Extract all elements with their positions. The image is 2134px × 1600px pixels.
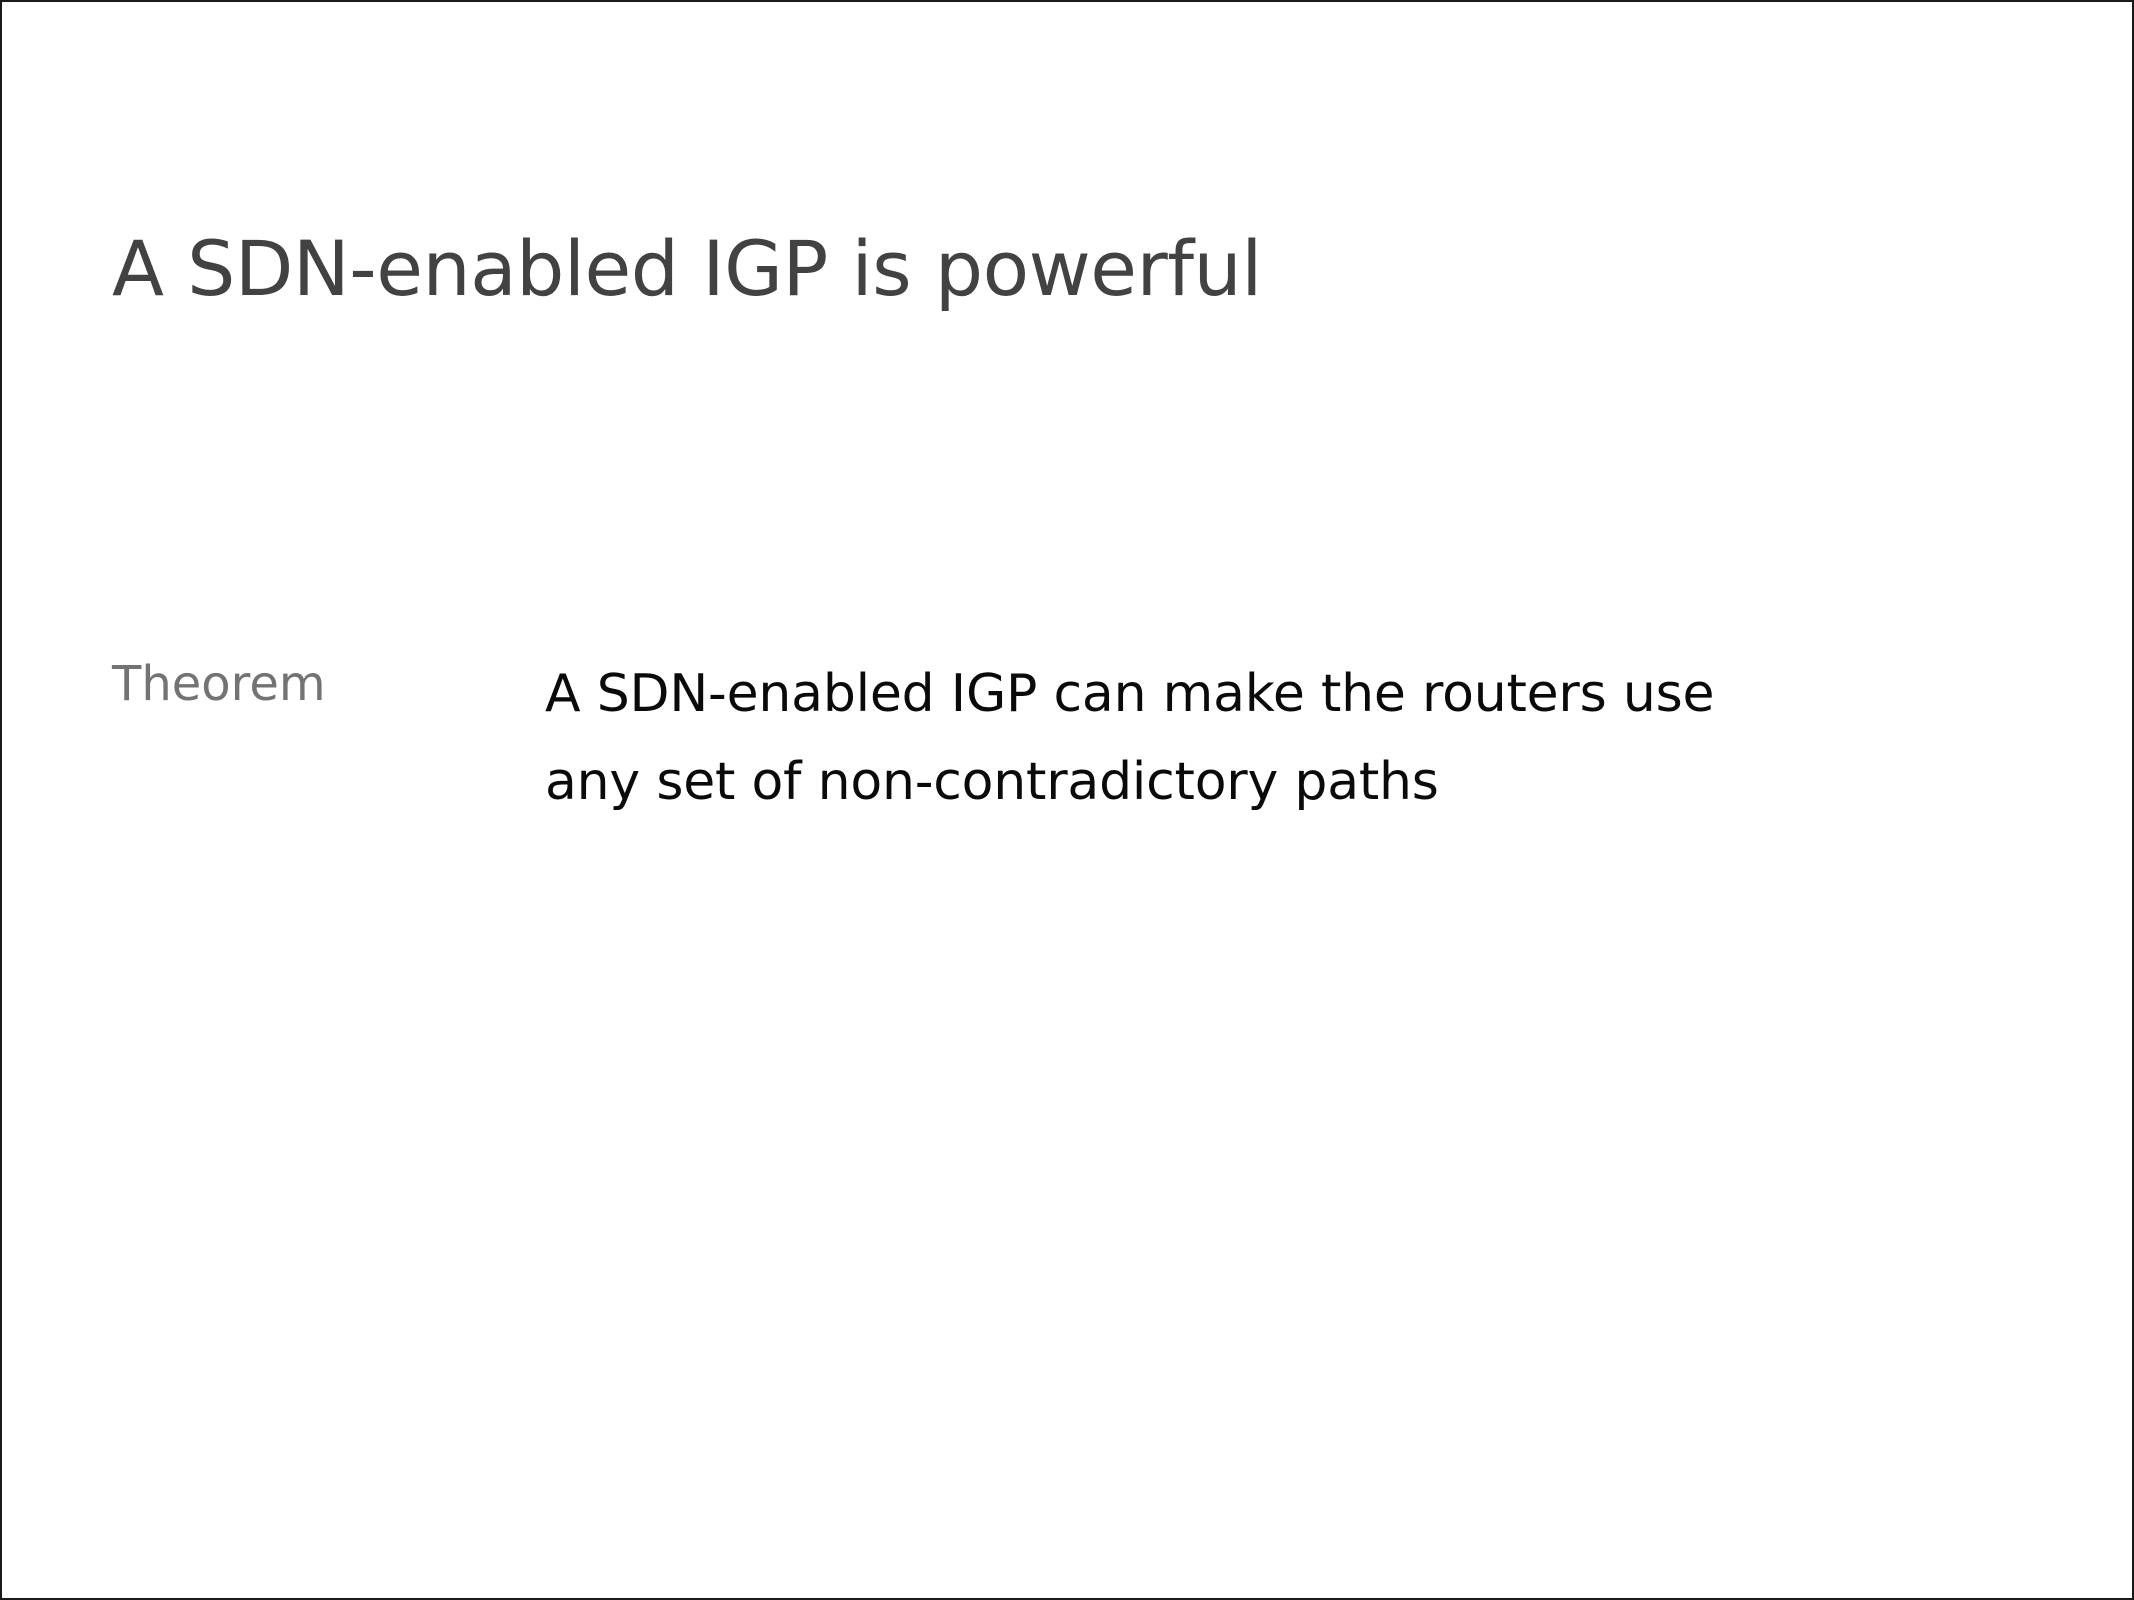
theorem-statement-line: A SDN-enabled IGP can make the routers u… — [545, 650, 1945, 738]
theorem-statement: A SDN-enabled IGP can make the routers u… — [545, 650, 1945, 826]
theorem-label: Theorem — [112, 660, 326, 708]
presentation-slide: A SDN-enabled IGP is powerful Theorem A … — [0, 0, 2134, 1600]
theorem-statement-line: any set of non-contradictory paths — [545, 738, 1945, 826]
page-title: A SDN-enabled IGP is powerful — [112, 231, 1262, 307]
